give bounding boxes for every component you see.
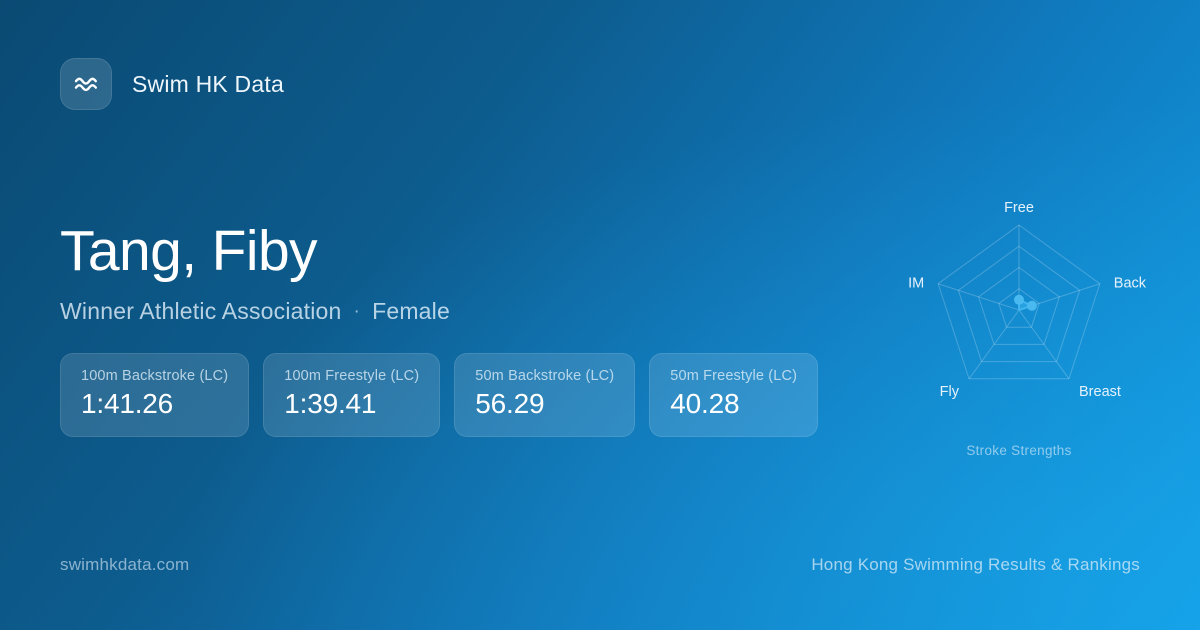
stat-label: 50m Freestyle (LC): [670, 368, 797, 384]
athlete-name: Tang, Fiby: [60, 222, 450, 281]
og-card: Swim HK Data Tang, Fiby Winner Athletic …: [0, 0, 1200, 630]
stat-label: 50m Backstroke (LC): [475, 368, 614, 384]
brand[interactable]: Swim HK Data: [60, 58, 284, 110]
stat-label: 100m Backstroke (LC): [81, 368, 228, 384]
stat-card[interactable]: 100m Backstroke (LC) 1:41.26: [60, 353, 249, 437]
brand-name: Swim HK Data: [132, 71, 284, 98]
stat-card[interactable]: 50m Backstroke (LC) 56.29: [454, 353, 635, 437]
athlete-club: Winner Athletic Association: [60, 298, 342, 325]
radar-caption: Stroke Strengths: [869, 443, 1169, 458]
radar-axis-label-free: Free: [1004, 200, 1034, 216]
radar-axis-label-fly: Fly: [940, 384, 960, 400]
stat-value: 1:39.41: [284, 388, 419, 420]
footer: swimhkdata.com Hong Kong Swimming Result…: [0, 555, 1200, 575]
radar-data-point: [1027, 301, 1037, 311]
radar-axis-label-back: Back: [1114, 276, 1147, 292]
stat-card[interactable]: 100m Freestyle (LC) 1:39.41: [263, 353, 440, 437]
stat-value: 40.28: [670, 388, 797, 420]
meta-separator: ·: [354, 301, 361, 323]
waves-icon: [60, 58, 112, 110]
stat-card[interactable]: 50m Freestyle (LC) 40.28: [649, 353, 818, 437]
radar-axis-label-breast: Breast: [1079, 384, 1121, 400]
stat-value: 56.29: [475, 388, 614, 420]
stat-card-list: 100m Backstroke (LC) 1:41.26 100m Freest…: [60, 353, 818, 437]
radar-data-point: [1014, 295, 1024, 305]
athlete-gender: Female: [372, 298, 450, 325]
stroke-strengths-radar-chart: FreeBackBreastFlyIM Stroke Strengths: [869, 175, 1169, 475]
stat-value: 1:41.26: [81, 388, 228, 420]
footer-site: swimhkdata.com: [60, 555, 189, 575]
athlete-block: Tang, Fiby Winner Athletic Association ·…: [60, 222, 450, 325]
radar-axis-label-im: IM: [908, 276, 924, 292]
footer-tagline: Hong Kong Swimming Results & Rankings: [811, 555, 1140, 575]
athlete-meta: Winner Athletic Association · Female: [60, 298, 450, 325]
radar-spoke: [938, 284, 1019, 310]
stat-label: 100m Freestyle (LC): [284, 368, 419, 384]
